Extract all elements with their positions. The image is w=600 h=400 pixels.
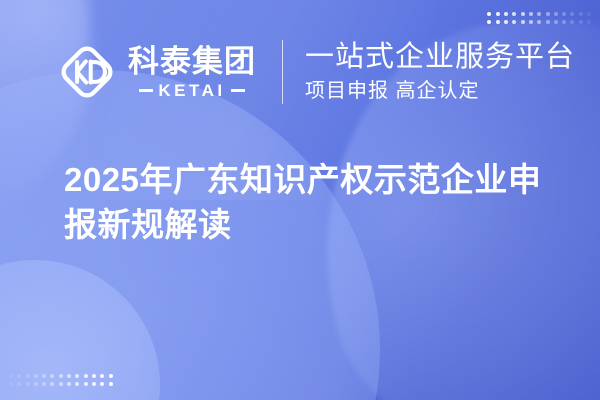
logo-dash-left-icon	[139, 89, 153, 92]
decor-dot	[92, 374, 96, 378]
decor-dot	[537, 12, 541, 16]
decor-dot	[546, 12, 550, 16]
decor-dot-row	[487, 20, 591, 24]
decor-dot	[579, 12, 583, 16]
decor-dot-grid-bottom-left	[9, 374, 113, 386]
decor-dot	[59, 374, 63, 378]
promo-banner: 科泰集团 KETAI 一站式企业服务平台 项目申报 高企认定 2025年广东知识…	[0, 0, 600, 400]
brand-header: 科泰集团 KETAI 一站式企业服务平台 项目申报 高企认定	[56, 40, 575, 104]
decor-dot	[42, 382, 46, 386]
logo-dash-right-icon	[231, 89, 245, 92]
decor-dot	[570, 12, 574, 16]
decor-dot	[92, 382, 96, 386]
decor-dot	[26, 382, 30, 386]
decor-dot	[554, 12, 558, 16]
decor-dot	[75, 382, 79, 386]
decor-dot	[587, 20, 591, 24]
decor-dot	[100, 374, 104, 378]
decor-dot	[50, 382, 54, 386]
ketai-kd-diamond-logo-icon	[56, 41, 118, 103]
tagline-primary: 一站式企业服务平台	[305, 40, 575, 74]
logo-company-name-cn: 科泰集团	[128, 45, 256, 78]
decor-dot	[496, 12, 500, 16]
decor-dot	[579, 20, 583, 24]
decor-dot	[570, 20, 574, 24]
decor-dot	[84, 382, 88, 386]
decor-dot	[512, 12, 516, 16]
decor-dot	[84, 374, 88, 378]
decor-dot	[521, 20, 525, 24]
logo-company-name-en-row: KETAI	[139, 82, 244, 99]
decor-dot	[17, 382, 21, 386]
decor-dot	[562, 20, 566, 24]
logo-wordmark: 科泰集团 KETAI	[128, 45, 256, 98]
decor-dot	[487, 20, 491, 24]
decor-dot	[34, 382, 38, 386]
decor-dot	[59, 382, 63, 386]
decor-dot	[487, 12, 491, 16]
decor-dot	[75, 374, 79, 378]
decor-dot	[67, 374, 71, 378]
decor-dot-grid-top-right	[487, 12, 591, 24]
decor-dot	[529, 12, 533, 16]
decor-dot	[42, 374, 46, 378]
decor-dot	[529, 20, 533, 24]
decor-dot	[50, 374, 54, 378]
decor-dot	[562, 12, 566, 16]
decor-dot	[17, 374, 21, 378]
tagline-block: 一站式企业服务平台 项目申报 高企认定	[305, 40, 575, 103]
decor-dot	[34, 374, 38, 378]
decor-dot	[521, 12, 525, 16]
decor-dot-row	[487, 12, 591, 16]
decor-dot	[587, 12, 591, 16]
decor-dot	[109, 374, 113, 378]
decor-dot	[26, 374, 30, 378]
decor-dot	[9, 382, 13, 386]
header-vertical-divider	[282, 40, 283, 104]
decor-dot	[109, 382, 113, 386]
decor-dot	[554, 20, 558, 24]
decor-dot	[496, 20, 500, 24]
decor-dot	[546, 20, 550, 24]
decor-dot	[537, 20, 541, 24]
decor-dot	[100, 382, 104, 386]
tagline-secondary: 项目申报 高企认定	[305, 78, 575, 104]
decor-dot-row	[9, 374, 113, 378]
decor-dot	[512, 20, 516, 24]
decor-dot	[67, 382, 71, 386]
decor-dot-row	[9, 382, 113, 386]
decor-dot	[504, 12, 508, 16]
page-title: 2025年广东知识产权示范企业申报新规解读	[64, 158, 564, 247]
decor-dot	[504, 20, 508, 24]
logo-company-name-en: KETAI	[158, 82, 225, 99]
decor-dot	[9, 374, 13, 378]
